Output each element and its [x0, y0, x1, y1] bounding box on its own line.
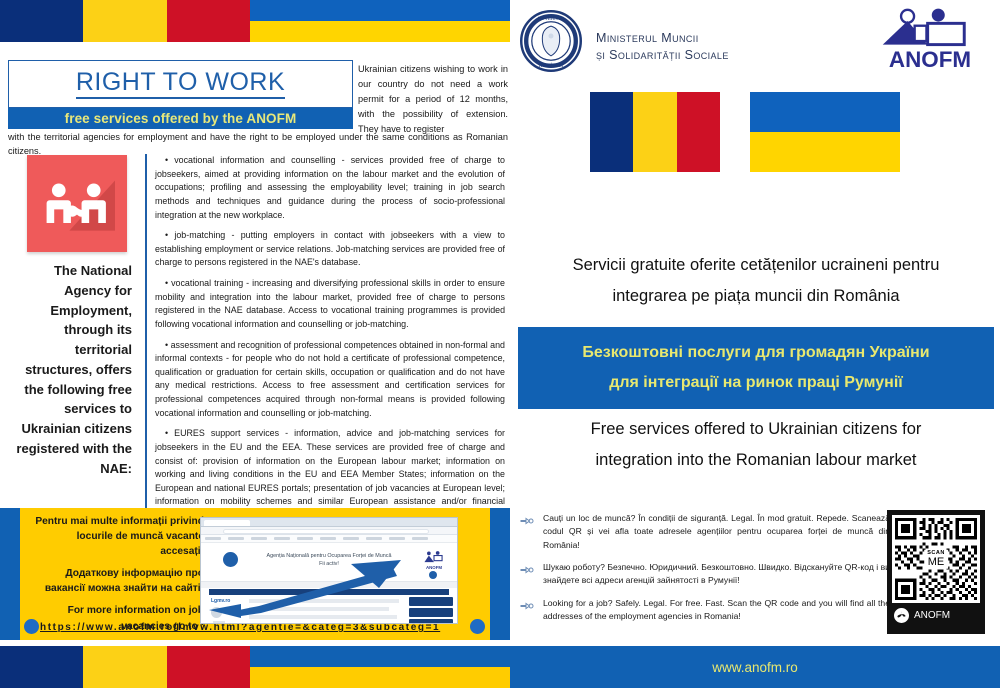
site-title: Agenția Națională pentru Ocuparea Forței… — [249, 552, 409, 568]
headline-english: Free services offered to Ukrainian citiz… — [518, 414, 994, 475]
subtitle-text: free services offered by the ANOFM — [65, 111, 297, 126]
subtitle-bar: free services offered by the ANOFM — [8, 108, 353, 129]
browser-tabbar — [201, 518, 457, 527]
service-item: • vocational training - increasing and d… — [155, 277, 505, 332]
browser-tab — [204, 520, 250, 526]
flyer-page: RIGHT TO WORK free services offered by t… — [0, 0, 1000, 688]
intro-paragraph-right: Ukrainian citizens wishing to work in ou… — [358, 62, 508, 137]
headline-en-line2: integration into the Romanian labour mar… — [518, 445, 994, 476]
ukraine-yellow-footer — [250, 667, 510, 688]
site-brand-label: Lgmv.ro — [211, 598, 230, 604]
qr-code-image[interactable]: SCAN ME — [892, 515, 980, 603]
headline-ua-line1: Безкоштовні послуги для громадян України — [582, 338, 929, 368]
scan-me-label: SCAN ME — [924, 550, 948, 569]
scan-label-big: ME — [927, 556, 945, 567]
site-avatar — [211, 607, 222, 618]
site-body: Lgmv.ro — [201, 595, 457, 624]
service-item: • job-matching - putting employers in co… — [155, 229, 505, 270]
ukraine-flag-right — [750, 92, 900, 172]
qr-card-label-text: ANOFM — [914, 610, 950, 621]
yellow-text-ro: Pentru mai multe informații privind locu… — [34, 514, 204, 559]
ministry-line-1: Ministerul Muncii — [596, 30, 729, 47]
romania-flag-top — [0, 0, 250, 42]
pointing-hand-icon — [520, 512, 536, 552]
handshake-icon — [27, 155, 127, 252]
bullet-text: Looking for a job? Safely. Legal. For fr… — [543, 597, 890, 624]
footer-website-link[interactable]: www.anofm.ro — [510, 646, 1000, 688]
list-item: Шукаю роботу? Безпечно. Юридичний. Безко… — [520, 561, 890, 588]
footer-bar: www.anofm.ro — [0, 646, 1000, 688]
guvernul-romaniei-seal-icon: GUVERNUL ROMÂNIEI — [520, 10, 582, 72]
left-blue-strip — [0, 508, 20, 640]
qr-card-label: ANOFM — [892, 608, 980, 623]
svg-text:ANOFM: ANOFM — [889, 47, 971, 70]
page-title: RIGHT TO WORK — [76, 69, 285, 98]
romania-flag-right — [590, 92, 720, 172]
site-header: Agenția Națională pentru Ocuparea Forței… — [201, 543, 457, 581]
qr-code-card[interactable]: SCAN ME ANOFM — [887, 510, 985, 634]
yellow-text-ua: Додаткову інформацію про вакансії можна … — [34, 566, 204, 596]
headline-ro-line1: Servicii gratuite oferite cetățenilor uc… — [518, 250, 994, 281]
svg-text:GUVERNUL: GUVERNUL — [538, 17, 565, 22]
list-item: Cauți un loc de muncă? În condiții de si… — [520, 512, 890, 552]
site-seal-icon — [223, 552, 238, 567]
headline-ua-line2: для інтеграції на ринок праці Румунії — [609, 368, 903, 398]
browser-bookmarks — [201, 535, 457, 543]
headline-en-line1: Free services offered to Ukrainian citiz… — [518, 414, 994, 445]
title-box: RIGHT TO WORK — [8, 60, 353, 108]
pdf-icon — [894, 608, 909, 623]
romania-flag-footer — [0, 646, 250, 688]
headline-ro-line2: integrarea pe piața muncii din România — [518, 281, 994, 312]
bullet-text: Cauți un loc de muncă? În condiții de si… — [543, 512, 890, 552]
services-list: • vocational information and counselling… — [155, 154, 505, 530]
flags-row — [590, 92, 900, 172]
site-help-icon[interactable] — [429, 571, 437, 579]
headline-romanian: Servicii gratuite oferite cetățenilor uc… — [518, 250, 994, 311]
pointing-hand-icon — [520, 597, 536, 624]
right-content-panel: GUVERNUL ROMÂNIEI Ministerul Muncii și S… — [512, 0, 1000, 646]
ministry-line-2: și Solidarității Sociale — [596, 47, 729, 64]
bullet-text: Шукаю роботу? Безпечно. Юридичний. Безко… — [543, 561, 890, 588]
service-item: • assessment and recognition of professi… — [155, 339, 505, 421]
svg-text:ROMÂNIEI: ROMÂNIEI — [539, 63, 564, 69]
website-screenshot[interactable]: Agenția Națională pentru Ocuparea Forței… — [200, 517, 458, 624]
pointing-hand-icon — [520, 561, 536, 588]
ukraine-flag-top — [250, 0, 510, 42]
bullet-dot-left — [24, 619, 39, 634]
anofm-logo-icon: ANOFM — [876, 8, 984, 70]
service-item: • vocational information and counselling… — [155, 154, 505, 222]
qr-bullet-list: Cauți un loc de muncă? În condiții de si… — [520, 512, 890, 632]
site-action-button[interactable] — [409, 608, 453, 617]
agency-caption: The National Agency for Employment, thro… — [8, 261, 132, 478]
browser-addressbar — [201, 527, 457, 535]
site-action-button[interactable] — [409, 619, 453, 624]
site-thumb — [213, 621, 225, 624]
list-item: Looking for a job? Safely. Legal. For fr… — [520, 597, 890, 624]
site-breadcrumb — [201, 581, 457, 588]
site-action-button[interactable] — [409, 597, 453, 606]
top-flag-banner — [0, 0, 510, 42]
ministry-name: Ministerul Muncii și Solidarității Socia… — [596, 30, 729, 64]
vertical-divider — [145, 154, 147, 539]
right-blue-strip — [490, 508, 510, 640]
headline-ukrainian-band: Безкоштовні послуги для громадян України… — [518, 327, 994, 409]
site-anofm-logo: ANOFM — [423, 551, 445, 570]
